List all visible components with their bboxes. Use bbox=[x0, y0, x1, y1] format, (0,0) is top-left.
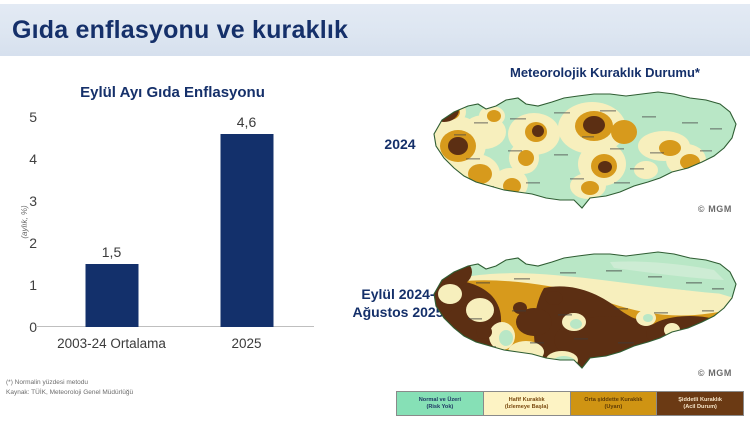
y-tick-3: 3 bbox=[29, 193, 37, 209]
bar-value-0: 1,5 bbox=[102, 244, 121, 260]
bar-2003-24-ortalama[interactable] bbox=[85, 264, 138, 327]
y-tick-5: 5 bbox=[29, 109, 37, 125]
map-turkey-2024: © MGM bbox=[414, 82, 750, 222]
drought-maps-panel: Meteorolojik Kuraklık Durumu* 2024 Eylül… bbox=[340, 58, 750, 421]
legend-item-light: Hafif Kuraklık (İzlemeye Başla) bbox=[484, 392, 571, 415]
page-title: Gıda enflasyonu ve kuraklık bbox=[12, 16, 348, 45]
legend-item-moderate: Orta şiddette Kuraklık (Uyarı) bbox=[571, 392, 658, 415]
mgm-watermark-2024: © MGM bbox=[698, 204, 732, 214]
legend-label-1-line2: (İzlemeye Başla) bbox=[505, 404, 549, 410]
map-turkey-2024-2025: © MGM bbox=[414, 236, 750, 386]
legend-label-0-line2: (Risk Yok) bbox=[426, 404, 453, 410]
chart-plot-area: (aylık, %) 5 4 3 2 1 0 1,5 2003-24 Ortal… bbox=[44, 117, 314, 327]
bar-value-1: 4,6 bbox=[237, 114, 256, 130]
legend-label-2-line2: (Uyarı) bbox=[605, 404, 623, 410]
drought-legend: Normal ve Üzeri (Risk Yok) Hafif Kuraklı… bbox=[396, 391, 744, 416]
bar-group-0: 1,5 2003-24 Ortalama bbox=[44, 117, 179, 327]
x-category-1: 2025 bbox=[231, 336, 261, 351]
y-tick-4: 4 bbox=[29, 151, 37, 167]
chart-title: Eylül Ayı Gıda Enflasyonu bbox=[0, 84, 345, 101]
maps-title: Meteorolojik Kuraklık Durumu* bbox=[470, 65, 740, 80]
y-tick-2: 2 bbox=[29, 235, 37, 251]
source-footnote: (*) Normalin yüzdesi metodu Kaynak: TÜİK… bbox=[6, 378, 286, 398]
bar-group-1: 4,6 2025 bbox=[179, 117, 314, 327]
slide-canvas: Gıda enflasyonu ve kuraklık Eylül Ayı Gı… bbox=[0, 0, 750, 421]
mgm-watermark-2025: © MGM bbox=[698, 368, 732, 378]
x-category-0: 2003-24 Ortalama bbox=[57, 336, 166, 351]
legend-label-3-line2: (Acil Durum) bbox=[683, 404, 717, 410]
y-tick-0: 0 bbox=[29, 319, 37, 335]
legend-item-severe: Şiddetli Kuraklık (Acil Durum) bbox=[657, 392, 743, 415]
y-axis-label: (aylık, %) bbox=[20, 205, 29, 238]
food-inflation-chart: Eylül Ayı Gıda Enflasyonu (aylık, %) 5 4… bbox=[0, 62, 345, 372]
y-tick-1: 1 bbox=[29, 277, 37, 293]
slide-header-band: Gıda enflasyonu ve kuraklık bbox=[0, 4, 750, 56]
footnote-source: Kaynak: TÜİK, Meteoroloji Genel Müdürlüğ… bbox=[6, 388, 286, 398]
footnote-method: (*) Normalin yüzdesi metodu bbox=[6, 378, 286, 388]
legend-item-normal: Normal ve Üzeri (Risk Yok) bbox=[397, 392, 484, 415]
bar-2025[interactable] bbox=[220, 134, 273, 327]
